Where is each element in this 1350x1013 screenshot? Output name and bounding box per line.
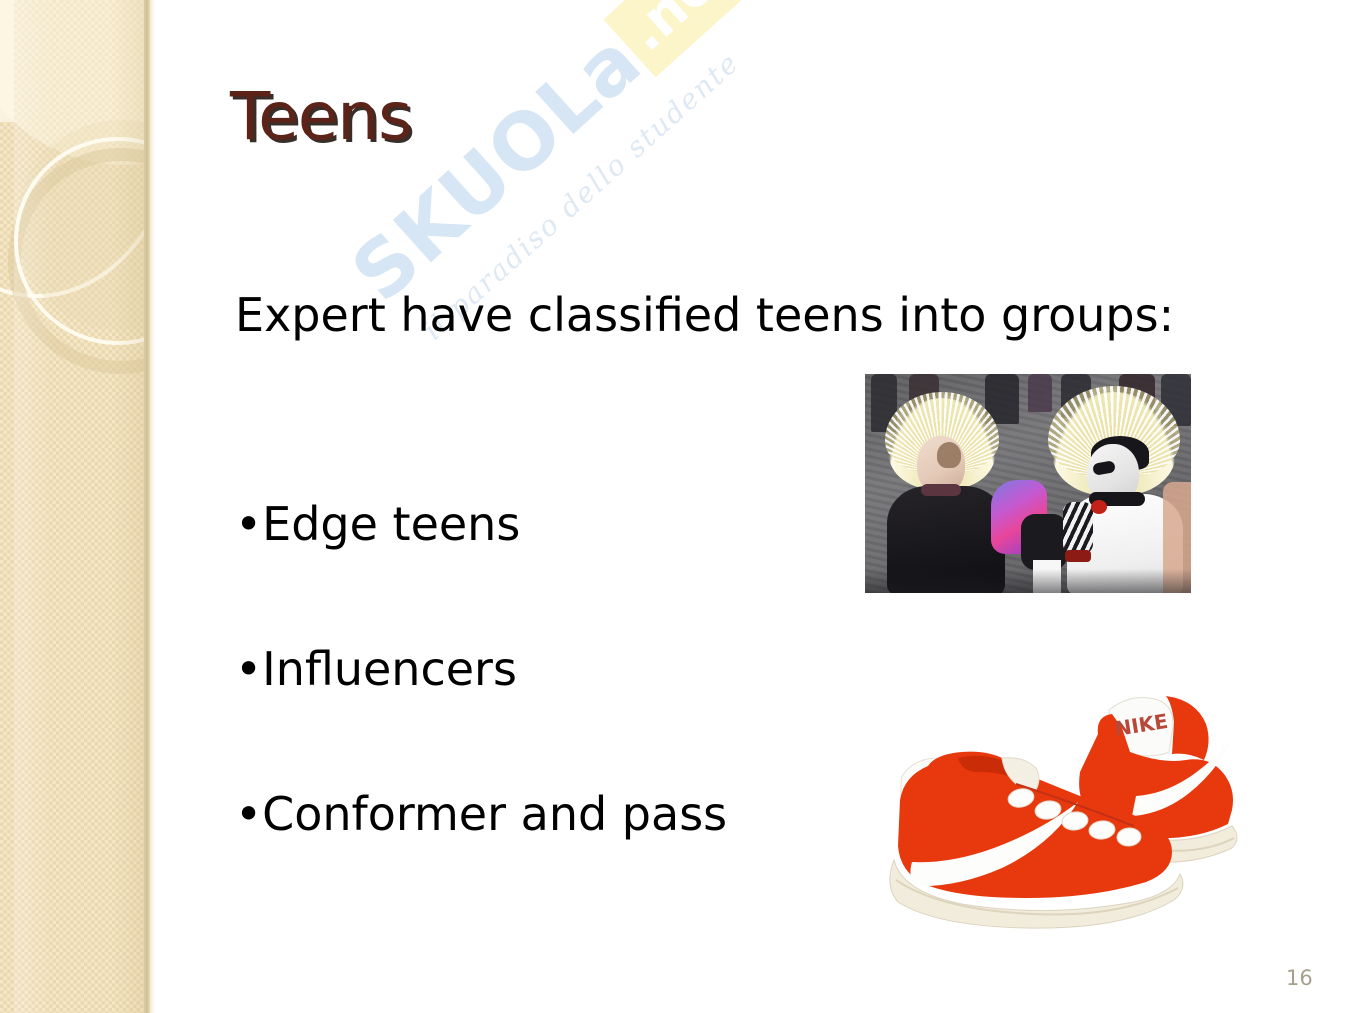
slide-body: Expert have classified teens into groups…	[235, 286, 1245, 345]
list-item: •Influencers	[235, 646, 517, 692]
list-item-label: Edge teens	[262, 497, 520, 551]
crowd-figure	[1028, 374, 1052, 412]
watermark-domain-text: .net	[604, 0, 763, 77]
slide: SKUOLa .net il paradiso dello studente T…	[0, 0, 1350, 1013]
list-item: •Edge teens	[235, 501, 520, 547]
lead-paragraph: Expert have classified teens into groups…	[235, 286, 1245, 345]
sidebar-edge-light	[150, 0, 155, 1013]
punk-teens-photo	[865, 374, 1191, 593]
punk-right-sleeve-cuff	[1065, 550, 1091, 562]
punk-left-hair-shave	[937, 442, 961, 468]
punk-left-collar	[921, 484, 961, 496]
nike-sneakers-photo: NIKE	[866, 648, 1270, 944]
bullet-marker-icon: •	[235, 497, 262, 551]
slide-title: Teens	[230, 84, 412, 150]
punk-right-glove	[1063, 502, 1093, 554]
bullet-marker-icon: •	[235, 787, 262, 841]
list-item: •Conformer and pass	[235, 791, 727, 837]
list-item-label: Conformer and pass	[262, 787, 727, 841]
decorative-sidebar	[0, 0, 155, 1013]
sidebar-shading	[14, 0, 155, 1013]
ground-step-shadow	[865, 569, 1191, 593]
sidebar-light-corner	[0, 0, 14, 122]
watermark-logo-row: SKUOLa .net	[340, 0, 763, 315]
watermark-brand-text: SKUOLa	[340, 21, 655, 315]
bullet-marker-icon: •	[235, 642, 262, 696]
list-item-label: Influencers	[262, 642, 517, 696]
punk-right-red-accent	[1091, 500, 1107, 514]
sneakers-illustration: NIKE	[866, 648, 1270, 944]
page-number: 16	[1286, 968, 1313, 989]
